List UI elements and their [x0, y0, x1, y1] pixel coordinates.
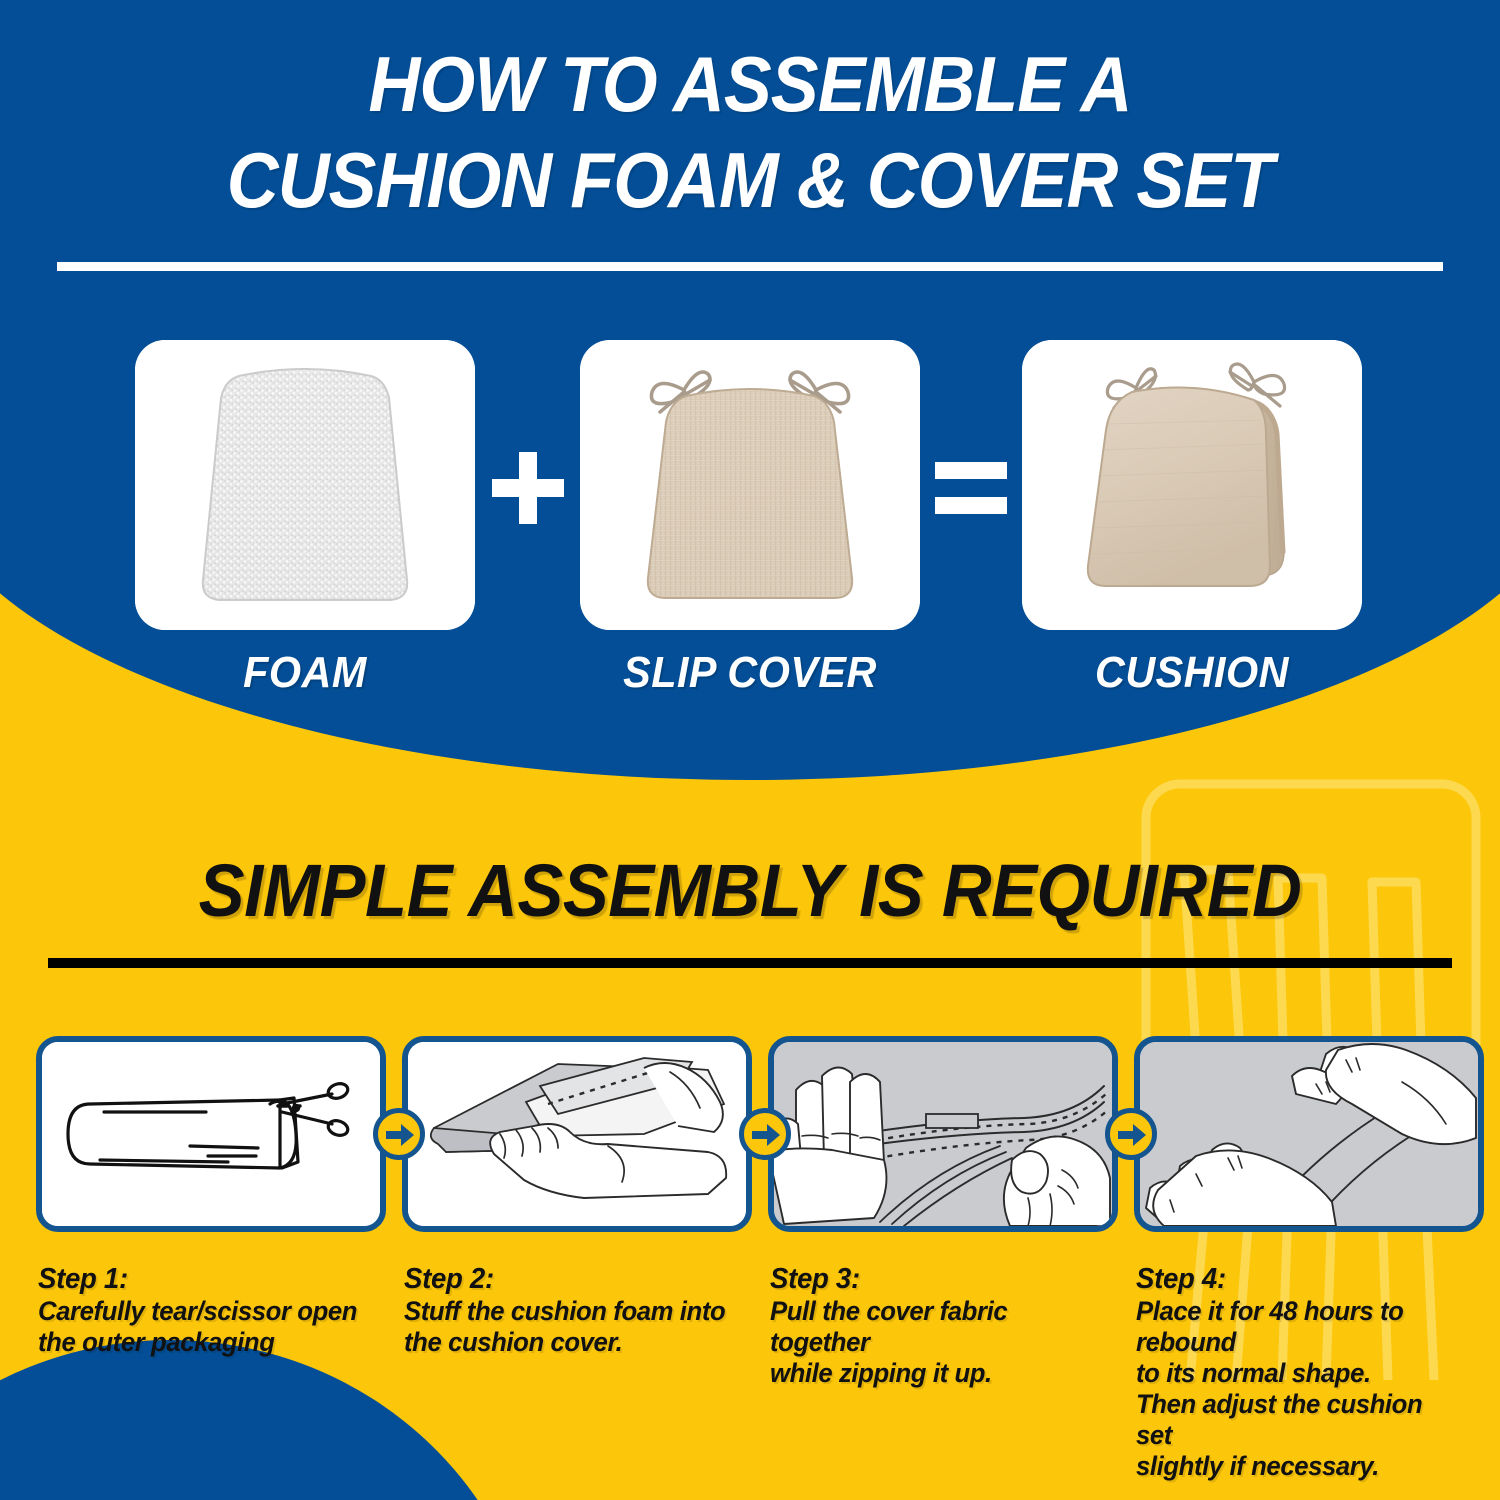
product-label-slip-cover: SLIP COVER [590, 648, 910, 698]
product-card-foam [135, 340, 475, 630]
step-description-4: Place it for 48 hours to rebound to its … [1136, 1296, 1463, 1482]
step-description-3: Pull the cover fabric together while zip… [770, 1296, 1097, 1389]
arrow-right-icon-2 [739, 1108, 791, 1160]
equals-operator-icon [935, 462, 1007, 514]
title-line-1: HOW TO ASSEMBLE A [60, 36, 1440, 132]
assembled-cushion-illustration [1022, 340, 1362, 630]
step-text-2: Step 2: Stuff the cushion foam into the … [404, 1262, 731, 1358]
product-label-foam: FOAM [145, 648, 465, 698]
adjusting-cushion-hands-illustration [1140, 1042, 1478, 1226]
assembly-steps-text-row: Step 1: Carefully tear/scissor open the … [0, 1262, 1500, 1462]
step-description-1: Carefully tear/scissor open the outer pa… [38, 1296, 365, 1358]
step-title-4: Step 4: [1136, 1262, 1463, 1296]
plus-operator-icon [492, 452, 564, 524]
stuffing-foam-hands-illustration [408, 1042, 746, 1226]
product-comparison-row [0, 340, 1500, 650]
assembly-section-heading: SIMPLE ASSEMBLY IS REQUIRED [53, 848, 1448, 933]
packaging-scissors-illustration [42, 1042, 380, 1226]
step-text-4: Step 4: Place it for 48 hours to rebound… [1136, 1262, 1463, 1482]
product-label-cushion: CUSHION [1032, 648, 1352, 698]
assembly-steps-row [0, 1036, 1500, 1246]
arrow-right-icon-1 [373, 1108, 425, 1160]
page-title: HOW TO ASSEMBLE A CUSHION FOAM & COVER S… [0, 36, 1500, 228]
arrow-right-icon-3 [1105, 1108, 1157, 1160]
step-title-1: Step 1: [38, 1262, 365, 1296]
title-divider-rule [57, 262, 1443, 271]
product-card-cushion [1022, 340, 1362, 630]
step-card-4 [1134, 1036, 1484, 1232]
foam-pad-illustration [135, 340, 475, 630]
infographic-poster: HOW TO ASSEMBLE A CUSHION FOAM & COVER S… [0, 0, 1500, 1500]
step-title-3: Step 3: [770, 1262, 1097, 1296]
step-text-3: Step 3: Pull the cover fabric together w… [770, 1262, 1097, 1389]
step-description-2: Stuff the cushion foam into the cushion … [404, 1296, 731, 1358]
slip-cover-illustration [580, 340, 920, 630]
title-line-2: CUSHION FOAM & COVER SET [60, 132, 1440, 228]
product-card-slip-cover [580, 340, 920, 630]
step-title-2: Step 2: [404, 1262, 731, 1296]
assembly-divider-rule [48, 958, 1452, 968]
step-card-2 [402, 1036, 752, 1232]
step-card-1 [36, 1036, 386, 1232]
step-text-1: Step 1: Carefully tear/scissor open the … [38, 1262, 365, 1358]
zipping-cover-hands-illustration [774, 1042, 1112, 1226]
step-card-3 [768, 1036, 1118, 1232]
